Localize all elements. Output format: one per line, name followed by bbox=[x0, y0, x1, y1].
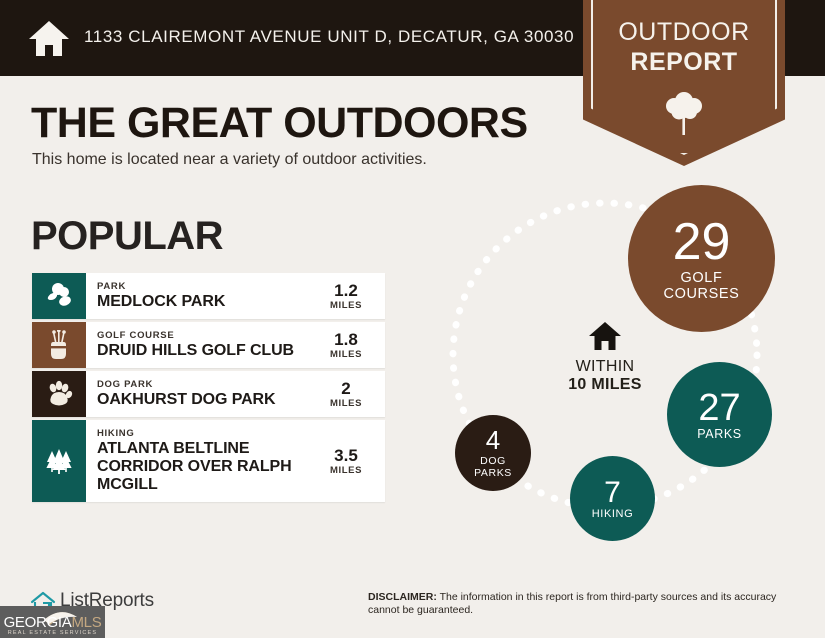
bubble-label-line1: GOLF bbox=[681, 270, 723, 286]
dog-park-tile bbox=[32, 371, 86, 417]
mls-accent: MLS bbox=[71, 614, 101, 631]
bubble-label-line1: HIKING bbox=[592, 509, 634, 520]
bubble-dog-parks[interactable]: 4 DOG PARKS bbox=[455, 415, 531, 491]
list-item[interactable]: GOLF COURSE DRUID HILLS GOLF CLUB 1.8 MI… bbox=[32, 322, 385, 368]
list-item-distance: 3.5 bbox=[334, 446, 358, 465]
disclaimer-label: DISCLAIMER: bbox=[368, 591, 437, 603]
georgia-mls-logo: GEORGIAMLS REAL ESTATE SERVICES bbox=[0, 606, 105, 638]
list-item-name: MEDLOCK PARK bbox=[97, 293, 311, 311]
page-title: THE GREAT OUTDOORS bbox=[31, 99, 528, 148]
mls-wordmark: GEORGIAMLS bbox=[0, 614, 105, 631]
park-tree-icon bbox=[44, 282, 74, 310]
golf-tile bbox=[32, 322, 86, 368]
mls-tagline: REAL ESTATE SERVICES bbox=[0, 630, 105, 636]
page-subtitle: This home is located near a variety of o… bbox=[32, 151, 427, 169]
golf-bag-icon bbox=[46, 330, 72, 360]
bubble-golf-courses[interactable]: 29 GOLF COURSES bbox=[628, 185, 775, 332]
list-item-name: OAKHURST DOG PARK bbox=[97, 391, 311, 409]
bubble-label-line1: PARKS bbox=[697, 428, 741, 441]
list-item[interactable]: DOG PARK OAKHURST DOG PARK 2 MILES bbox=[32, 371, 385, 417]
popular-heading: POPULAR bbox=[31, 214, 223, 259]
center-line-2: 10 MILES bbox=[545, 376, 665, 394]
property-address: 1133 CLAIREMONT AVENUE UNIT D, DECATUR, … bbox=[84, 27, 574, 47]
list-item-unit: MILES bbox=[330, 465, 362, 476]
bubble-value: 29 bbox=[673, 216, 731, 268]
list-item-unit: MILES bbox=[330, 349, 362, 360]
list-item-unit: MILES bbox=[330, 398, 362, 409]
within-10-miles-chart: 29 GOLF COURSES 27 PARKS 7 HIKING 4 DOG … bbox=[400, 170, 825, 570]
list-item-distance: 1.2 bbox=[334, 281, 358, 300]
paw-print-icon bbox=[44, 379, 74, 409]
list-item-category: HIKING bbox=[97, 428, 311, 440]
bubble-label-line2: COURSES bbox=[664, 286, 740, 302]
bubble-value: 27 bbox=[698, 389, 740, 427]
popular-list: PARK MEDLOCK PARK 1.2 MILES bbox=[32, 273, 385, 505]
list-item-category: DOG PARK bbox=[97, 379, 311, 391]
list-item-category: GOLF COURSE bbox=[97, 330, 311, 342]
center-line-1: WITHIN bbox=[545, 358, 665, 376]
tree-icon bbox=[663, 88, 705, 136]
bubble-label-line1: DOG bbox=[480, 455, 506, 467]
list-item-distance: 2 bbox=[341, 379, 350, 398]
bubble-hiking[interactable]: 7 HIKING bbox=[570, 456, 655, 541]
bubble-parks[interactable]: 27 PARKS bbox=[667, 362, 772, 467]
bubble-label-line2: PARKS bbox=[474, 467, 512, 479]
pine-trees-icon bbox=[44, 447, 74, 475]
hiking-tile bbox=[32, 420, 86, 502]
chart-center-label: WITHIN 10 MILES bbox=[545, 320, 665, 394]
outdoor-report-badge: OUTDOOR REPORT bbox=[583, 0, 785, 166]
park-tile bbox=[32, 273, 86, 319]
badge-line-1: OUTDOOR bbox=[583, 18, 785, 47]
list-item-distance: 1.8 bbox=[334, 330, 358, 349]
house-icon bbox=[588, 320, 622, 352]
list-item-category: PARK bbox=[97, 281, 311, 293]
house-icon bbox=[28, 18, 70, 58]
list-item-unit: MILES bbox=[330, 300, 362, 311]
list-item[interactable]: PARK MEDLOCK PARK 1.2 MILES bbox=[32, 273, 385, 319]
disclaimer: DISCLAIMER: The information in this repo… bbox=[368, 591, 792, 617]
bubble-value: 4 bbox=[486, 427, 500, 453]
list-item-name: ATLANTA BELTLINE CORRIDOR OVER RALPH MCG… bbox=[97, 440, 311, 494]
list-item[interactable]: HIKING ATLANTA BELTLINE CORRIDOR OVER RA… bbox=[32, 420, 385, 502]
bubble-value: 7 bbox=[604, 478, 621, 508]
list-item-name: DRUID HILLS GOLF CLUB bbox=[97, 342, 311, 360]
mls-primary: GEORGIA bbox=[4, 614, 72, 631]
badge-line-2: REPORT bbox=[583, 48, 785, 77]
outdoor-report-page: 1133 CLAIREMONT AVENUE UNIT D, DECATUR, … bbox=[0, 0, 825, 638]
